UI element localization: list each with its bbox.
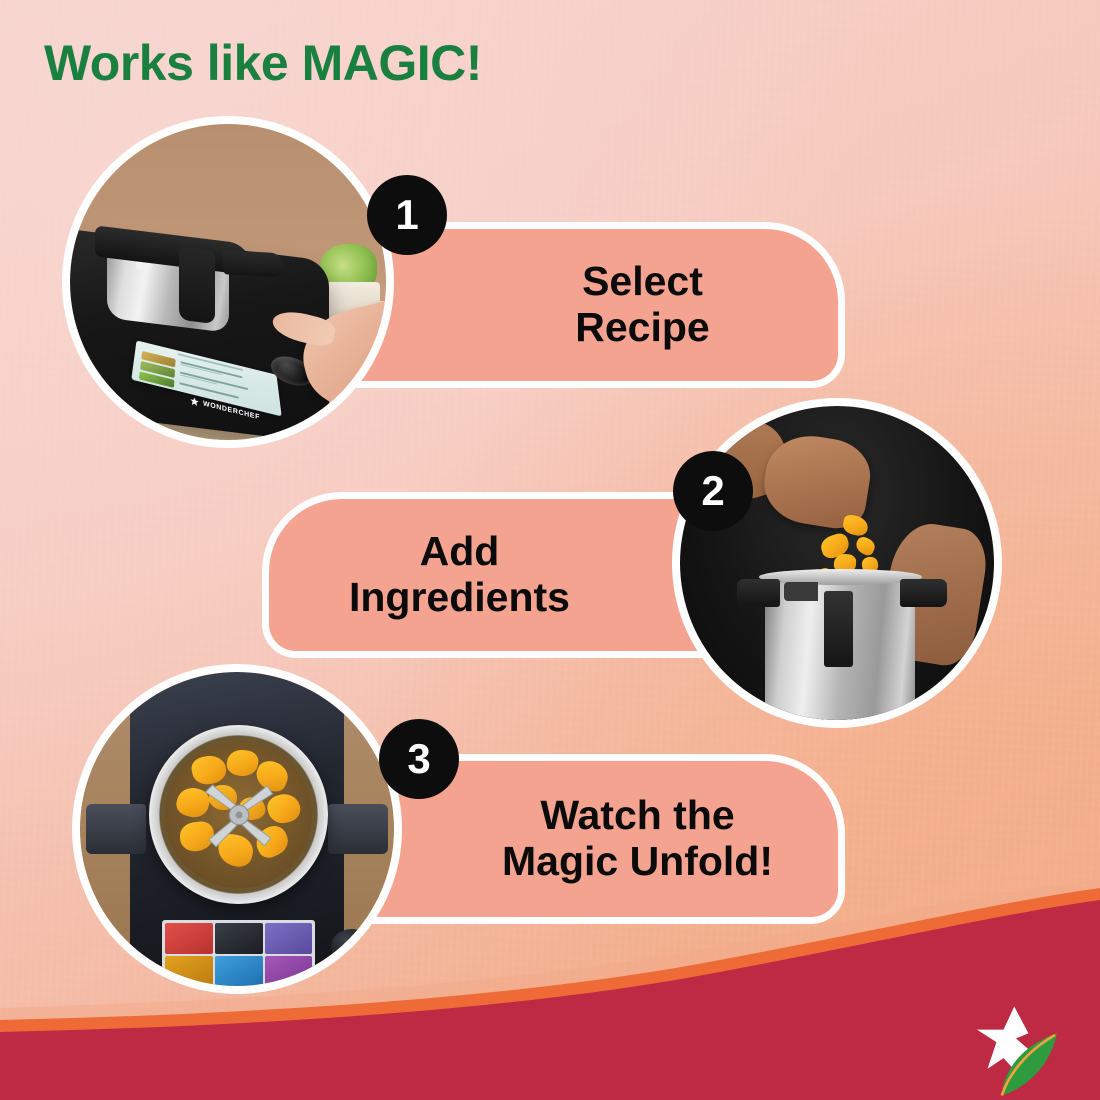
step-3-number: 3 <box>407 738 430 780</box>
jar-top-opening <box>149 725 328 904</box>
jar-rim <box>759 569 922 585</box>
step-2-label: Add Ingredients <box>349 529 570 621</box>
bottom-wave-banner <box>0 880 1100 1100</box>
step-1-number-badge: 1 <box>367 175 447 255</box>
step-1-number: 1 <box>395 194 418 236</box>
jar-inner-shadow <box>784 582 819 601</box>
machine-side-handle-left <box>86 804 146 854</box>
machine-side-handle-right <box>328 804 388 854</box>
jar-contents <box>165 741 312 888</box>
step-1-photo: WONDERCHEF <box>62 116 394 448</box>
brand-star-icon <box>190 396 199 407</box>
page-title: Works like MAGIC! <box>44 34 482 92</box>
blender-blade-icon <box>195 771 283 859</box>
wonderchef-logo <box>962 1003 1070 1099</box>
jar-handle-left <box>737 579 781 607</box>
step-3-label: Watch the Magic Unfold! <box>502 793 773 885</box>
step-3-number-badge: 3 <box>379 719 459 799</box>
infographic-canvas: Works like MAGIC! Select Recipe Add Ingr… <box>0 0 1100 1100</box>
step-1-photo-inner: WONDERCHEF <box>70 124 386 440</box>
step-1-label: Select Recipe <box>575 259 709 351</box>
jar-handle-right <box>900 579 947 607</box>
wave-crimson-band <box>0 900 1100 1100</box>
step-2-number: 2 <box>701 470 724 512</box>
jar-handle <box>179 246 215 324</box>
step-2-photo <box>672 398 1002 728</box>
step-2-number-badge: 2 <box>673 451 753 531</box>
jar-spout <box>223 250 286 277</box>
jar-front-band <box>824 591 852 666</box>
